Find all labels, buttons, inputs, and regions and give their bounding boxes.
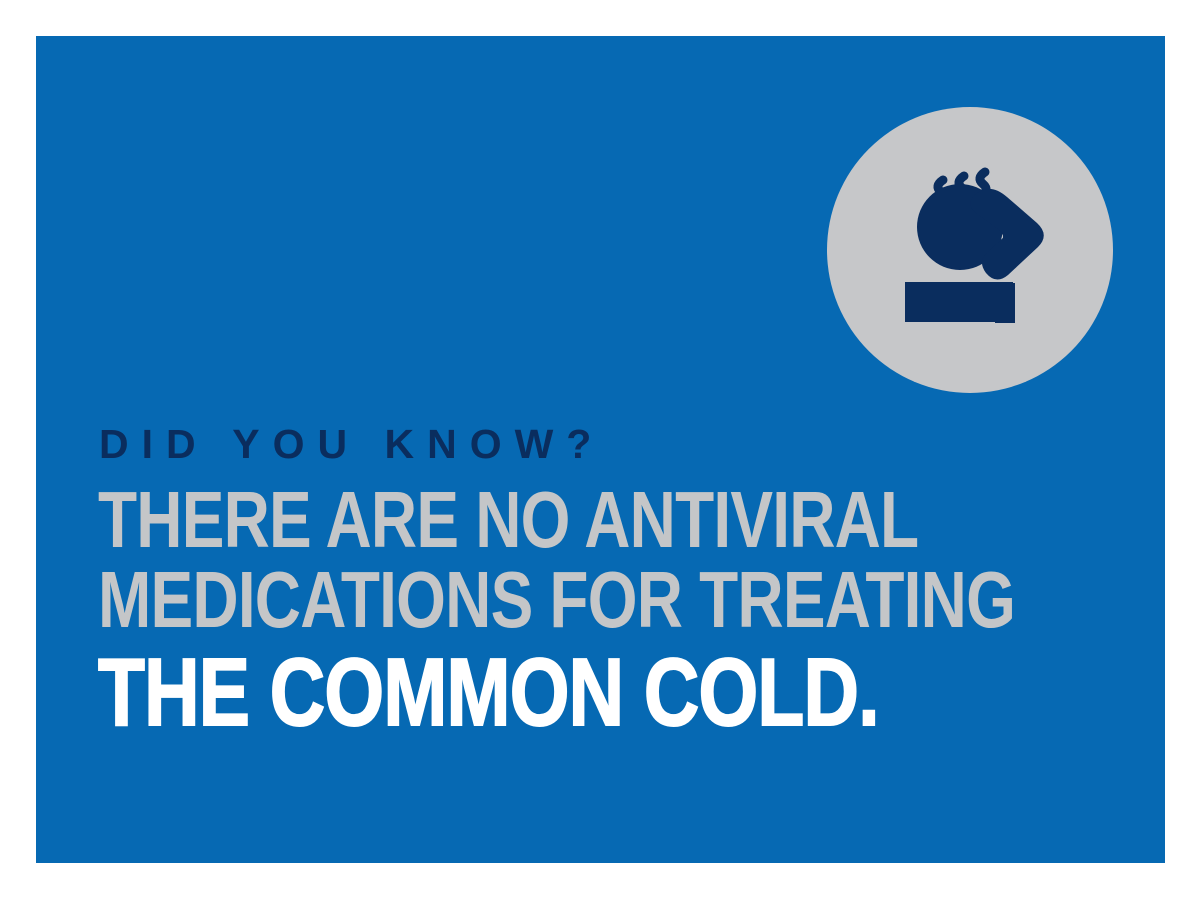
sick-person-fever-icon [827,107,1113,393]
sick-person-fever-icon-badge [827,107,1113,393]
headline-block: DID YOU KNOW? THERE ARE NO ANTIVIRAL MED… [98,424,1138,739]
arm-torso-join-shape [995,283,1015,323]
headline-line-2: MEDICATIONS FOR TREATING [98,561,930,639]
headline-line-1: THERE ARE NO ANTIVIRAL [98,481,930,559]
headline-line-3: THE COMMON COLD. [98,646,930,739]
eyebrow-text: DID YOU KNOW? [99,424,1138,465]
poster-panel: DID YOU KNOW? THERE ARE NO ANTIVIRAL MED… [36,36,1165,863]
